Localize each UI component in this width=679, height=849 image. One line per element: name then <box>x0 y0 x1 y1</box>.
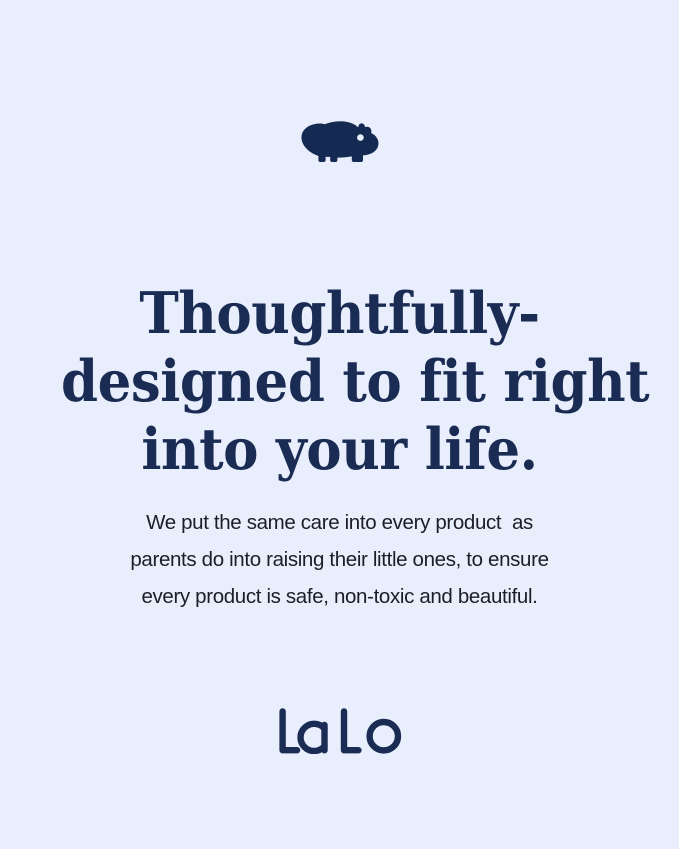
body-copy-line-3: every product is safe, non-toxic and bea… <box>60 578 619 615</box>
page-body-copy: We put the same care into every product … <box>0 504 679 615</box>
hippo-logo-icon: Lalo hippo logo <box>301 118 379 168</box>
brand-mark: Lalo hippo logo <box>0 118 679 168</box>
headline-line-2: designed to fit right <box>61 348 618 416</box>
body-copy-line-2: parents do into raising their little one… <box>60 541 619 578</box>
lalo-wordmark-icon <box>278 708 402 754</box>
headline-line-1: Thoughtfully- <box>61 280 618 348</box>
body-copy-line-1: We put the same care into every product … <box>60 504 619 541</box>
promo-poster: Lalo hippo logo Thoughtfully- designed t… <box>0 0 679 849</box>
lalo-wordmark: LaLO <box>0 708 679 754</box>
page-headline: Thoughtfully- designed to fit right into… <box>0 280 679 484</box>
headline-line-3: into your life. <box>61 416 618 484</box>
